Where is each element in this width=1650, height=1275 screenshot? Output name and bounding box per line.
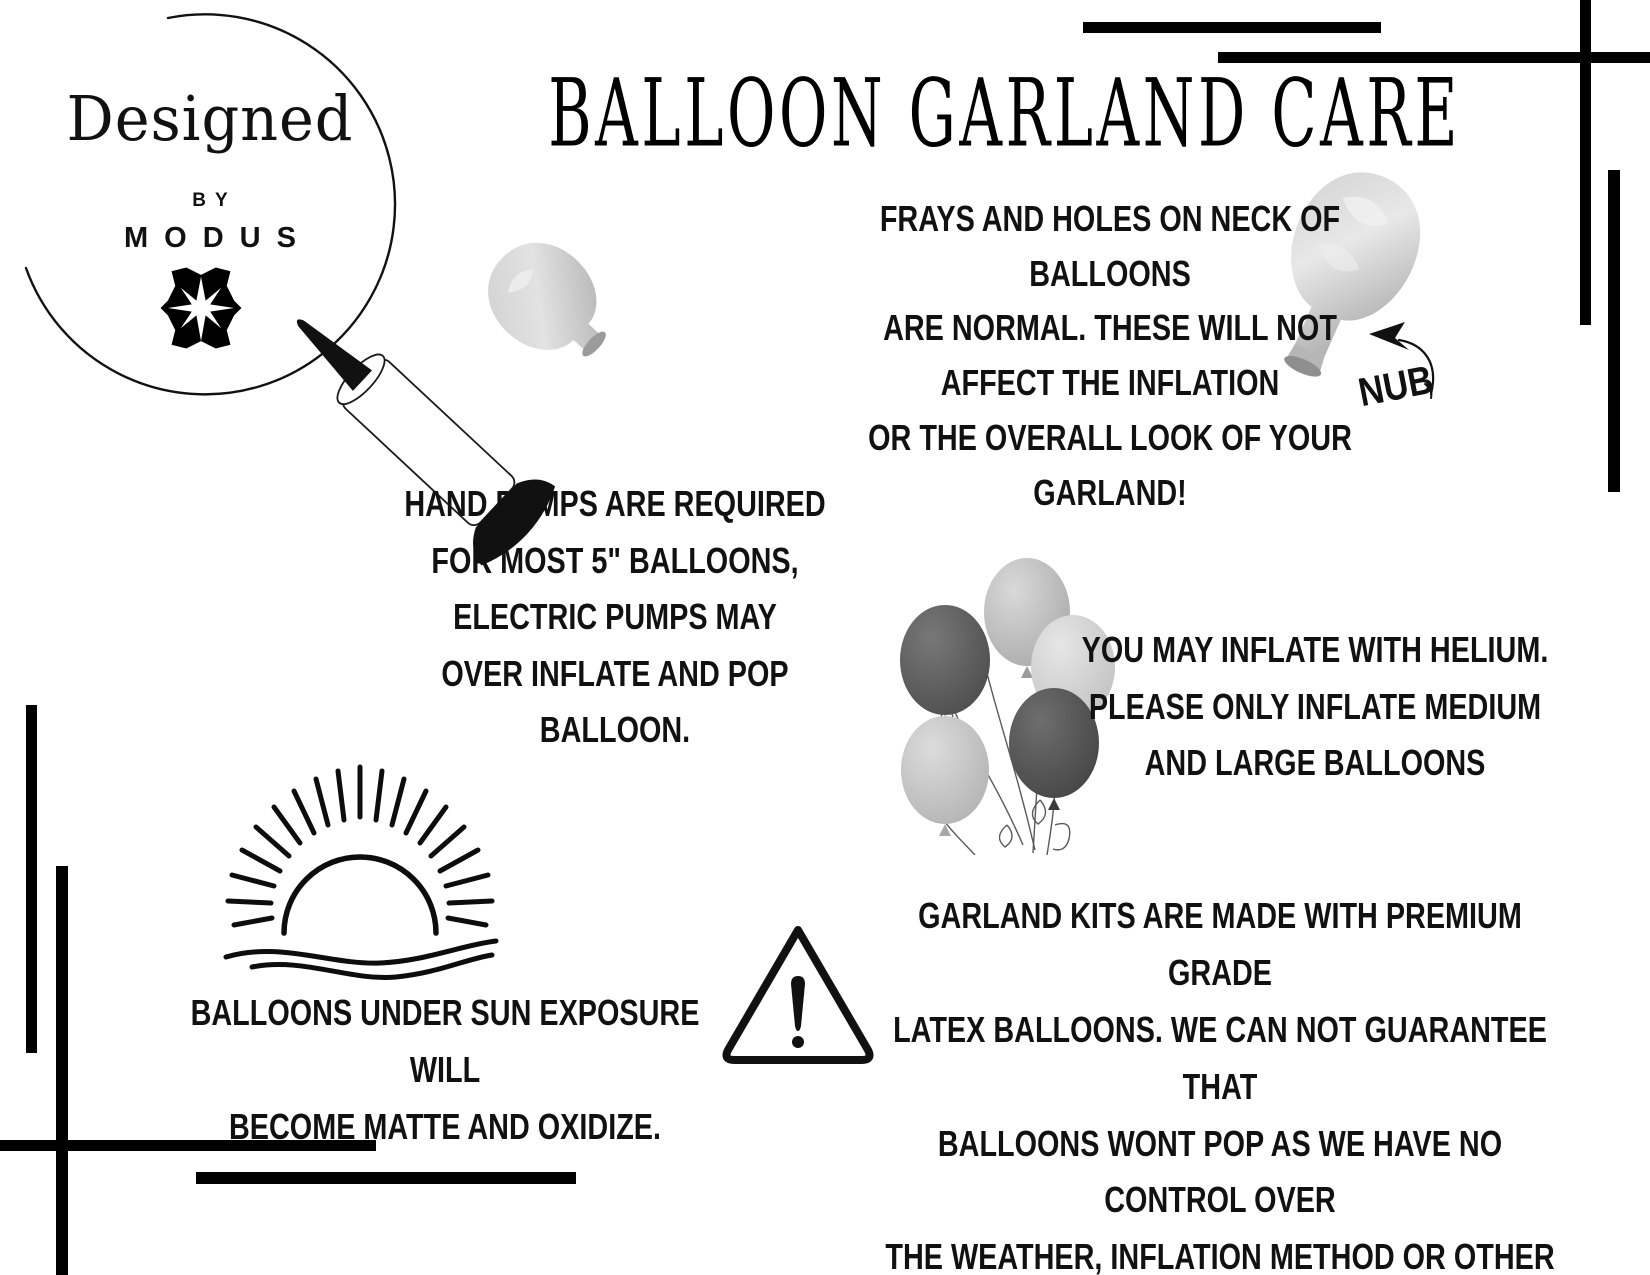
helium-section-text: YOU MAY INFLATE WITH HELIUM. PLEASE ONLY… xyxy=(1067,622,1563,792)
deco-bar-top-1 xyxy=(1083,22,1381,33)
deco-bar-bottom-vertical-2 xyxy=(56,866,68,1275)
sun-section-text: BALLOONS UNDER SUN EXPOSURE WILL BECOME … xyxy=(157,985,733,1156)
deco-bar-bottom-2 xyxy=(196,1172,576,1184)
page-title: BALLOON GARLAND CARE xyxy=(548,68,1182,161)
warning-section-text: GARLAND KITS ARE MADE WITH PREMIUM GRADE… xyxy=(884,888,1556,1275)
deco-bar-bottom-vertical-1 xyxy=(26,705,37,1053)
brand-script-word: Designed xyxy=(11,88,410,150)
deco-bar-top-vertical-1 xyxy=(1580,0,1591,325)
rising-sun-illustration xyxy=(200,755,520,990)
brand-by-word: BY xyxy=(0,190,420,212)
deco-bar-top-vertical-2 xyxy=(1608,170,1620,492)
poster-canvas: Designed BY MODUS BALLOON GARLAND CARE xyxy=(0,0,1650,1275)
pump-section-text: HAND PUMPS ARE REQUIRED FOR MOST 5" BALL… xyxy=(367,476,863,759)
warning-triangle-icon xyxy=(718,918,878,1068)
nub-section-text: FRAYS AND HOLES ON NECK OF BALLOONS ARE … xyxy=(830,192,1390,520)
